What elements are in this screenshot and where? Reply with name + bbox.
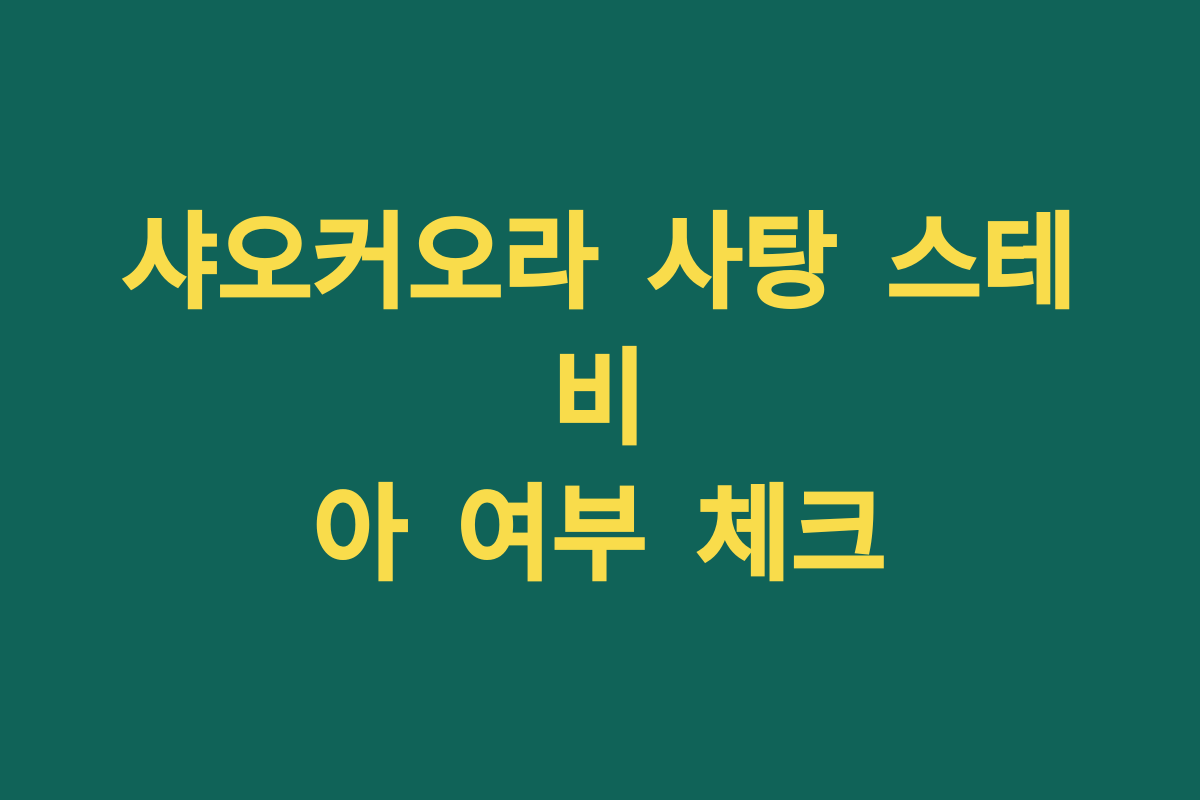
text-banner: 샤오커오라 사탕 스테비 아 여부 체크 [0,0,1200,800]
banner-headline: 샤오커오라 사탕 스테비 아 여부 체크 [85,196,1115,604]
